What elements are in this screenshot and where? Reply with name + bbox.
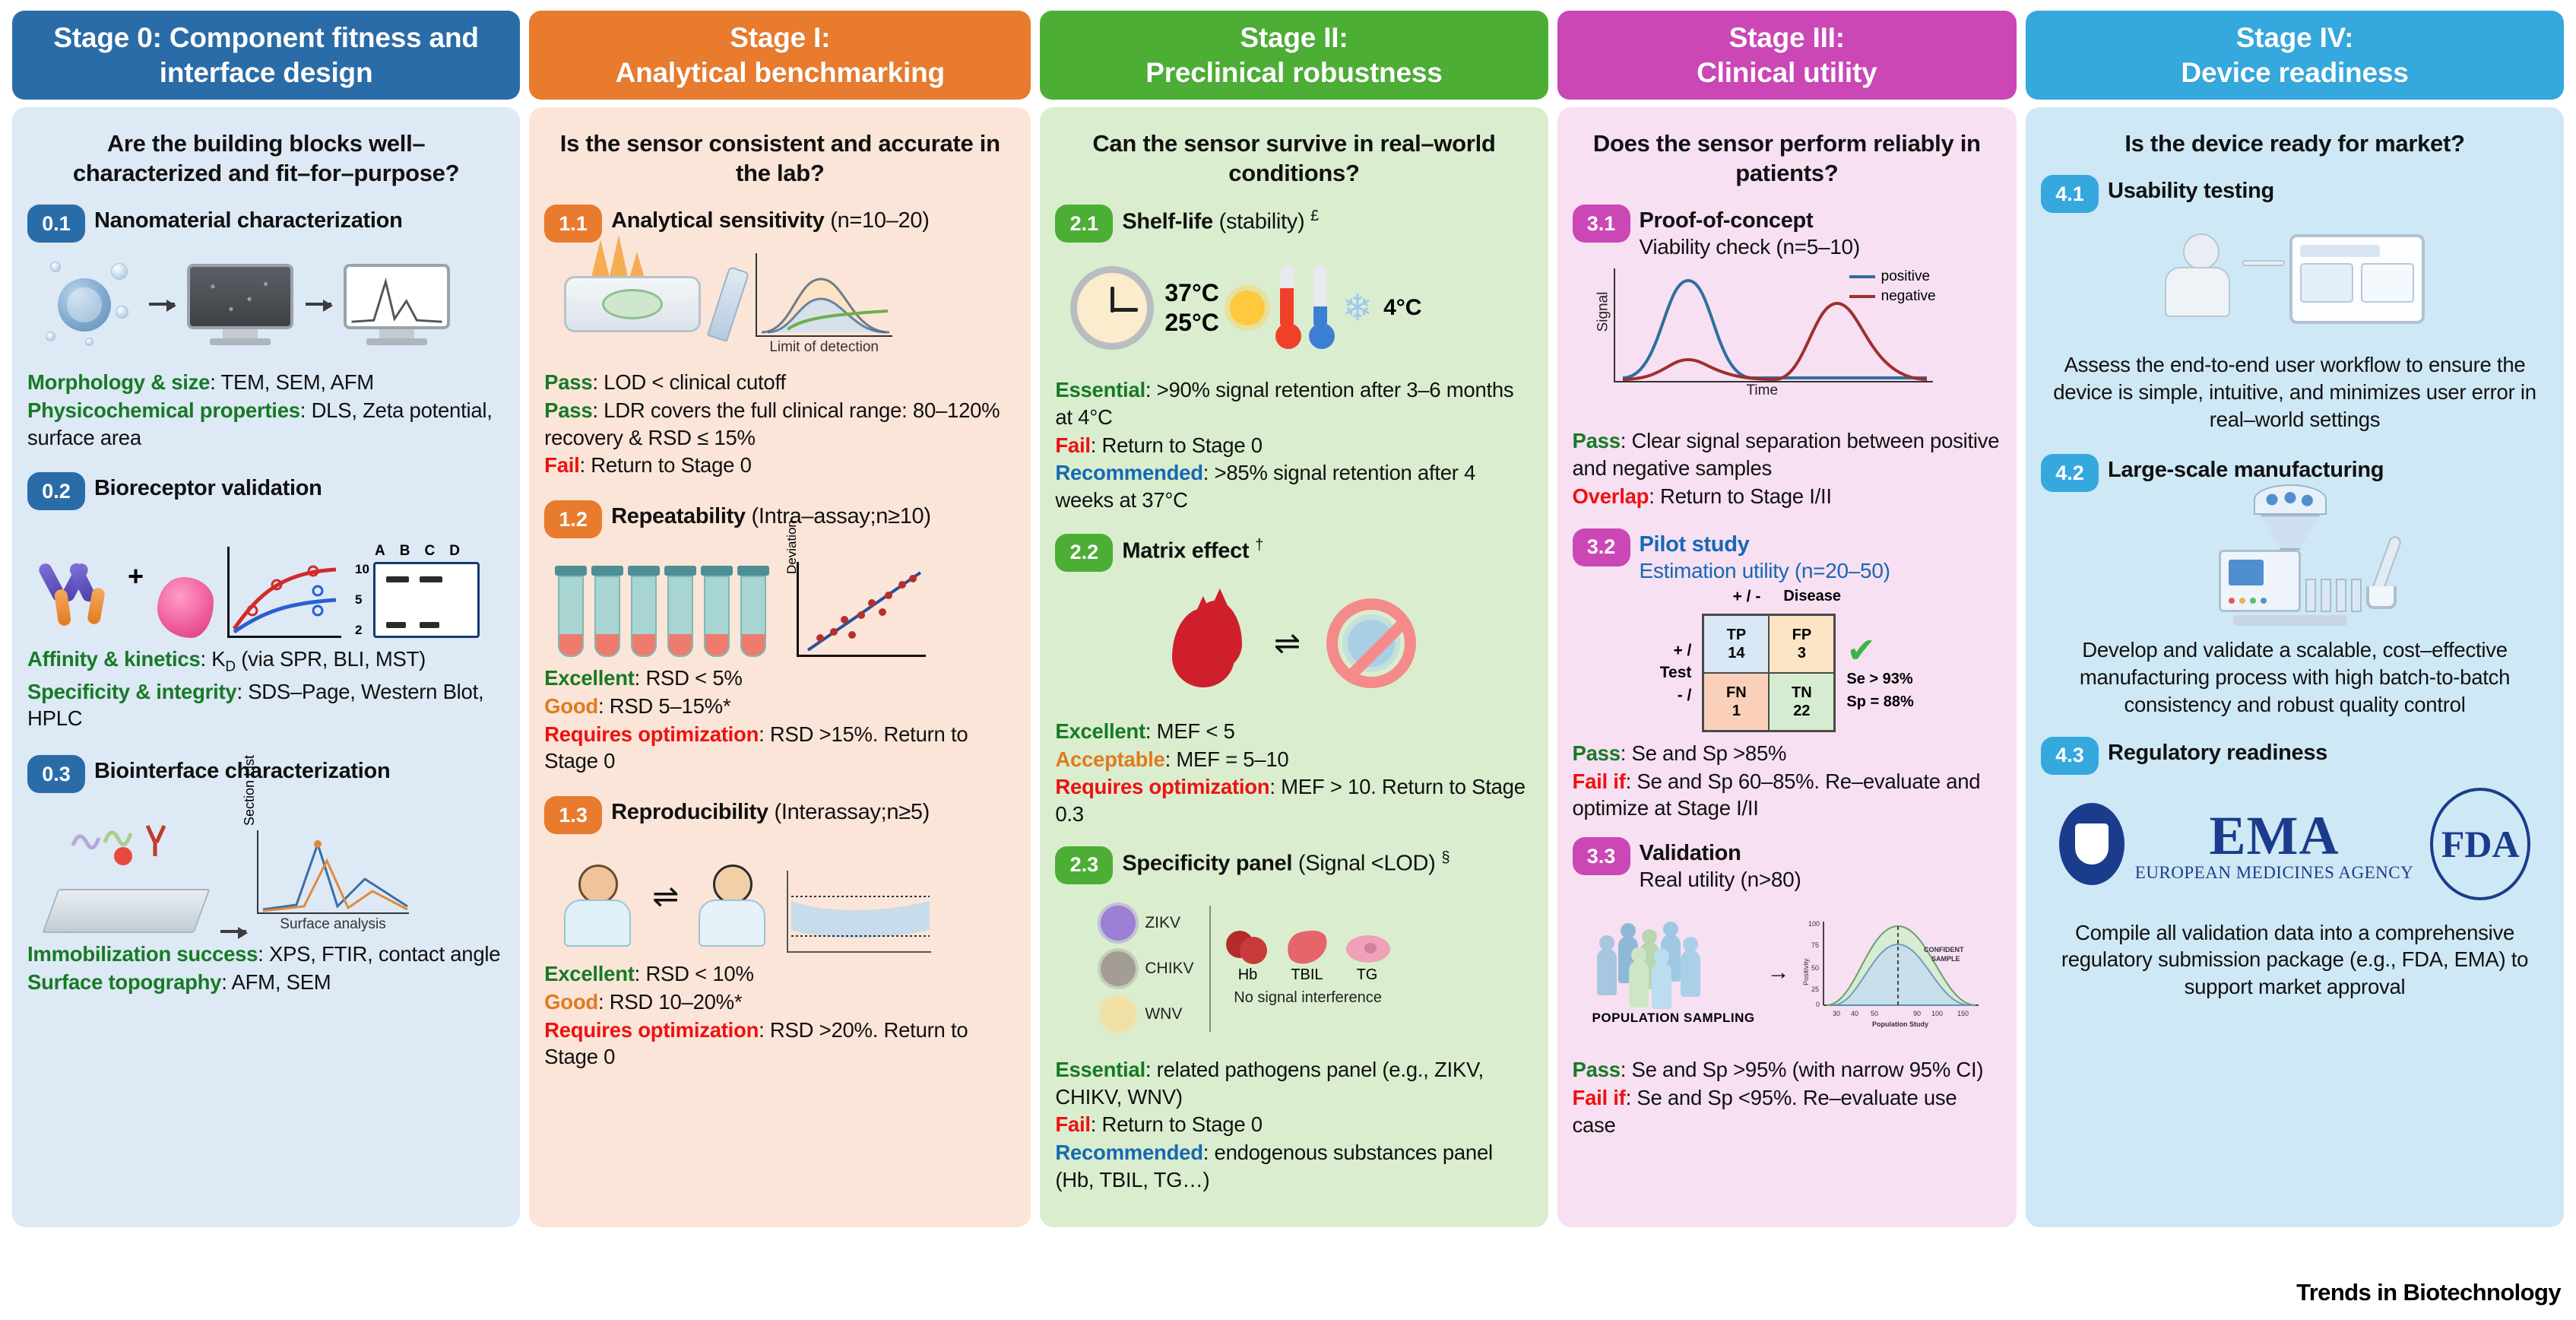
step-1-2: 1.2 Repeatability (Intra–assay;n≥10) [544,499,1016,538]
blot-lane-a: A [375,543,385,560]
assay-tube-icon [631,566,657,657]
assay-tube-icon [594,566,620,657]
criterion-key: Fail [1055,1112,1090,1136]
step-3-3-badge: 3.3 [1573,837,1630,875]
clock-icon [1070,266,1154,350]
scientist-icon-2 [699,865,767,953]
criterion-text: : RSD 5–15%* [598,694,730,718]
criterion-text: : Return to Stage 0 [580,453,752,477]
virus-icon-zikv [1101,906,1136,941]
blood-drop-icon [1172,596,1248,690]
blot-lane-b: B [400,543,410,560]
equilibrium-arrow-icon: ⇌ [652,877,679,915]
temperature-labels: 37°C 25°C [1164,278,1219,338]
criterion-text: : MEF = 5–10 [1165,747,1289,771]
population-icon [1592,919,1706,1011]
biointerface-characterization-art: Section List Surface analysis [27,798,505,933]
kd-subscript: D [225,659,235,675]
step-2-2-title: Matrix effect † [1122,532,1263,564]
svg-text:100: 100 [1808,920,1820,928]
svg-text:90: 90 [1913,1010,1921,1017]
hot-thermometer-icon [1275,265,1298,351]
criterion-key: Excellent [544,666,635,690]
criterion-key: Surface topography [27,970,221,994]
antibody-icon [41,562,114,638]
svg-text:75: 75 [1811,941,1819,949]
step-3-2-title-text: Pilot study [1640,532,1750,557]
journal-watermark: Trends in Biotechnology [2296,1279,2561,1306]
criterion-key: Excellent [544,962,635,985]
step-4-1-title-text: Usability testing [2108,179,2274,203]
plus-sign: + [128,560,144,592]
svg-text:40: 40 [1851,1010,1858,1017]
criterion-text: : RSD < 10% [635,962,754,985]
step-0-1-criteria: Morphology & size: TEM, SEM, AFM Physico… [27,369,505,451]
stage-2-title-line1: Stage II: [1145,21,1442,55]
step-1-3-title: Reproducibility (Interassay;n≥5) [611,795,930,825]
step-0-3-badge: 0.3 [27,755,85,793]
svg-text:25: 25 [1811,985,1819,993]
surface-analysis-caption: Surface analysis [257,916,409,933]
analytical-sensitivity-art: Limit of detection [544,247,1016,361]
cm-cell-value: 14 [1728,644,1744,662]
stage-2-question: Can the sensor survive in real–world con… [1063,129,1525,188]
equilibrium-arrow-icon-2: ⇌ [1274,624,1301,662]
shelf-life-art: 37°C 25°C ❄ 4°C [1055,247,1532,369]
criterion-key: Physicochemical properties [27,398,300,422]
stage-0-title-line1: Stage 0: Component fitness and [53,21,478,55]
axis-label-time: Time [1747,382,1779,399]
ema-logo-text: EMA [2135,804,2413,868]
confusion-matrix-header: + / - Disease [1573,588,2002,606]
step-3-2-badge: 3.2 [1573,528,1630,566]
svg-text:50: 50 [1811,964,1819,972]
confusion-matrix-metrics: ✔ Se > 93% Sp = 88% [1846,633,1913,713]
stage-3-question: Does the sensor perform reliably in pati… [1580,129,1995,188]
confusion-matrix-art: + / - Disease + / Test - / TP 14 [1573,588,2002,732]
functionalized-chip-icon [50,809,210,933]
step-3-3-title: Validation Real utility (n>80) [1640,836,1801,892]
cm-cell-tn: TN 22 [1769,673,1834,731]
repeatability-art: Deviation [544,543,1016,657]
temp-37c: 37°C [1164,278,1219,308]
protein-icon [157,577,214,638]
triglyceride-icon [1346,935,1390,963]
step-3-3-criteria: Pass: Se and Sp >95% (with narrow 95% CI… [1573,1056,2002,1138]
step-3-1-criteria: Pass: Clear signal separation between po… [1573,427,2002,509]
step-0-2-title: Bioreceptor validation [94,471,322,501]
snowflake-icon: ❄ [1342,287,1373,329]
step-2-3-footnote-marker: § [1441,849,1450,866]
step-1-1-title-text: Analytical sensitivity [611,208,824,233]
step-0-1: 0.1 Nanomaterial characterization [27,203,505,243]
step-2-3-title: Specificity panel (Signal <LOD) § [1122,845,1450,877]
stage-0-body: Are the building blocks well–characteriz… [12,107,520,1227]
pathogen-chikv: CHIKV [1101,951,1193,986]
scientist-icon-1 [564,865,632,953]
criterion-key: Good [544,694,598,718]
step-3-2-criteria: Pass: Se and Sp >85% Fail if: Se and Sp … [1573,740,2002,822]
western-blot-art: A B C D 10 5 2 [355,543,480,638]
criterion-text: : TEM, SEM, AFM [210,370,374,394]
step-2-3-title-text: Specificity panel [1122,852,1292,876]
pipette-icon [707,266,749,342]
step-3-1-subtitle: Viability check (n=5–10) [1640,234,1860,259]
criterion-key: Specificity & integrity [27,680,236,703]
blot-lane-labels: A B C D [355,543,480,560]
criterion-key: Requires optimization [544,722,759,746]
step-3-2-subtitle: Estimation utility (n=20–50) [1640,558,1890,583]
step-2-1: 2.1 Shelf-life (stability) £ [1055,203,1532,243]
step-3-1-badge: 3.1 [1573,205,1630,243]
step-1-2-title-text: Repeatability [611,504,746,528]
divider [1209,906,1211,1032]
criterion-text: : RSD < 5% [635,666,743,690]
manufacturing-line-icon [2219,484,2362,626]
assay-tube-icon [740,566,766,657]
step-4-1-badge: 4.1 [2041,175,2099,213]
cm-corner-label: Disease [1783,588,1841,606]
label-tbil: TBIL [1291,966,1323,984]
blot-lane-d: D [449,543,460,560]
step-2-2-badge: 2.2 [1055,534,1113,572]
criterion-text: : Return to Stage 0 [1091,433,1263,457]
cm-cell-fn: FN 1 [1703,673,1769,731]
step-1-1-title-suffix: (n=10–20) [824,208,929,233]
criterion-key: Overlap [1573,484,1649,508]
svg-text:Population Study: Population Study [1872,1020,1928,1028]
stage-3-body: Does the sensor perform reliably in pati… [1557,107,2017,1227]
pathogen-list: ZIKV CHIKV WNV [1101,906,1193,1032]
arm-icon [2242,260,2285,266]
step-3-1-title: Proof-of-concept Viability check (n=5–10… [1640,203,1860,259]
step-1-3-badge: 1.3 [544,796,602,834]
endogenous-substances-group: Hb TBIL TG No signal interference [1226,931,1390,1007]
tem-instrument-icon [187,264,293,345]
step-1-3-criteria: Excellent: RSD < 10% Good: RSD 10–20%* R… [544,960,1016,1071]
stage-2-header: Stage II: Preclinical robustness [1040,11,1548,100]
stage-column-3: Stage III: Clinical utility Does the sen… [1557,11,2017,1227]
legend-positive: positive [1849,268,1936,285]
arrow-right-icon-2 [306,303,331,306]
step-3-3: 3.3 Validation Real utility (n>80) [1573,836,2002,892]
criterion-text: : Se and Sp 60–85%. Re–evaluate and opti… [1573,769,1981,820]
step-3-2: 3.2 Pilot study Estimation utility (n=20… [1573,527,2002,583]
reproducibility-band-plot [787,871,931,953]
arrow-right-icon-3 [220,930,246,933]
step-3-3-subtitle: Real utility (n>80) [1640,867,1801,892]
criterion-text-2: (via SPR, BLI, MST) [236,647,426,671]
criterion-key: Recommended [1055,461,1202,484]
usability-testing-art [2041,217,2549,341]
step-4-1-title: Usability testing [2108,173,2274,204]
step-1-3-title-suffix: (Interassay;n≥5) [768,800,930,824]
hemoglobin-icon [1226,931,1269,963]
svg-text:CONFIDENT: CONFIDENT [1924,946,1964,954]
step-2-3-badge: 2.3 [1055,846,1113,884]
step-4-3: 4.3 Regulatory readiness [2041,735,2549,775]
sun-icon [1230,290,1265,325]
binding-curve-plot [227,547,341,638]
label-tg: TG [1357,966,1378,984]
criterion-key: Excellent [1055,719,1145,743]
criterion-key: Affinity & kinetics [27,647,201,671]
criterion-key: Immobilization success [27,942,258,966]
axis-label-signal: Signal [1595,292,1611,332]
criterion-text: : Se and Sp >85% [1621,741,1786,765]
cm-row-label-neg: - / [1660,686,1692,705]
legend-label-negative: negative [1881,288,1936,305]
regulatory-readiness-art: EMA EUROPEAN MEDICINES AGENCY FDA [2041,779,2549,909]
step-4-1: 4.1 Usability testing [2041,173,2549,213]
step-4-2-badge: 4.2 [2041,454,2099,492]
criterion-text: : LDR covers the full clinical range: 80… [544,398,1000,449]
criterion-key: Essential [1055,1058,1145,1081]
criterion-key: Essential [1055,378,1145,401]
legend-label-positive: positive [1881,268,1930,285]
criterion-text: : Se and Sp >95% (with narrow 95% CI) [1621,1058,1984,1081]
step-3-1-title-text: Proof-of-concept [1640,208,1814,233]
criterion-key: Good [544,990,598,1014]
criterion-key: Pass [544,370,592,394]
confusion-matrix-grid: TP 14 FP 3 FN 1 TN 22 [1702,614,1836,732]
confusion-matrix-row-labels: + / Test - / [1660,641,1692,705]
step-2-3: 2.3 Specificity panel (Signal <LOD) § [1055,845,1532,884]
cm-cell-value: 22 [1793,702,1810,720]
step-1-2-badge: 1.2 [544,500,602,538]
blot-lane-c: C [424,543,435,560]
step-0-3: 0.3 Biointerface characterization [27,754,505,793]
criterion-text: : MEF < 5 [1145,719,1235,743]
pathogen-label-chikv: CHIKV [1145,960,1193,978]
matrix-effect-art: ⇌ [1055,576,1532,710]
step-1-2-title-suffix: (Intra–assay;n≥10) [746,504,931,528]
criterion-key: Fail if [1573,769,1626,793]
cm-cell-tp: TP 14 [1703,615,1769,673]
stage-column-2: Stage II: Preclinical robustness Can the… [1040,11,1548,1227]
virus-icon-chikv [1101,951,1136,986]
criterion-text: : LOD < clinical cutoff [592,370,785,394]
svg-text:Positivity: Positivity [1802,958,1810,985]
svg-text:SAMPLE: SAMPLE [1931,955,1960,963]
step-1-3: 1.3 Reproducibility (Interassay;n≥5) [544,795,1016,834]
cold-thermometer-icon [1309,265,1332,351]
metric-specificity: Sp = 88% [1846,690,1913,713]
signal-separation-plot: Signal Time positive negative [1614,268,1933,396]
no-interference-icon [1326,598,1416,688]
cm-axis-label-test: Test [1660,660,1692,686]
nanoparticle-cluster-icon [46,259,137,350]
nanomaterial-characterization-art [27,247,505,361]
step-0-2-criteria: Affinity & kinetics: KD (via SPR, BLI, M… [27,646,505,732]
step-2-1-title-text: Shelf-life [1122,210,1212,234]
step-4-2-title: Large-scale manufacturing [2108,452,2384,483]
stage-2-body: Can the sensor survive in real–world con… [1040,107,1548,1227]
step-0-2: 0.2 Bioreceptor validation [27,471,505,510]
mw-marker-10: 10 [355,562,369,577]
criterion-key: Requires optimization [1055,775,1269,798]
blot-gel [373,562,480,638]
step-0-1-title: Nanomaterial characterization [94,203,403,233]
dls-readout-icon [344,264,450,345]
criterion-key: Fail if [1573,1086,1626,1109]
user-icon [2165,233,2238,325]
assay-tube-icon [558,566,584,657]
assay-plate-icon [564,276,701,332]
stage-3-title-line1: Stage III: [1697,21,1877,55]
endogenous-icons [1226,931,1390,963]
cm-column-header: + / - [1733,588,1761,606]
cm-cell-value: 3 [1798,644,1806,662]
legend-negative: negative [1849,288,1936,305]
temp-4c: 4°C [1383,294,1421,322]
step-3-3-title-text: Validation [1640,841,1741,865]
cm-cell-fp: FP 3 [1769,615,1834,673]
criterion-text: : K [201,647,226,671]
stage-1-question: Is the sensor consistent and accurate in… [552,129,1008,188]
criterion-key: Pass [544,398,592,422]
endogenous-labels: Hb TBIL TG [1226,966,1390,984]
cm-cell-label: TP [1727,626,1747,644]
pathogen-label-zikv: ZIKV [1145,914,1180,932]
svg-text:100: 100 [1931,1010,1943,1017]
pathogen-wnv: WNV [1101,997,1193,1032]
mw-marker-2: 2 [355,623,369,638]
stage-column-0: Stage 0: Component fitness and interface… [12,11,520,1227]
device-screen-icon [2289,234,2425,324]
stage-0-header: Stage 0: Component fitness and interface… [12,11,520,100]
lod-plot [756,253,892,337]
step-2-1-title-suffix: (stability) [1213,210,1304,234]
section-list-label: Section List [242,755,258,826]
assay-tube-icon [704,566,730,657]
step-4-3-title-text: Regulatory readiness [2108,741,2327,765]
criterion-text: : Se and Sp <95%. Re–evaluate use case [1573,1086,1957,1137]
ema-logo-subtext: EUROPEAN MEDICINES AGENCY [2135,863,2413,883]
step-2-2-title-text: Matrix effect [1122,539,1249,563]
stage-column-4: Stage IV: Device readiness Is the device… [2026,11,2564,1227]
step-0-2-badge: 0.2 [27,472,85,510]
step-2-1-footnote-marker: £ [1310,208,1319,224]
pathogen-zikv: ZIKV [1101,906,1193,941]
checkmark-icon: ✔ [1846,633,1913,668]
bilirubin-icon [1282,925,1331,969]
step-4-3-title: Regulatory readiness [2108,735,2327,766]
population-sampling-caption: POPULATION SAMPLING [1592,1011,1755,1026]
cm-cell-value: 1 [1732,702,1741,720]
stage-column-1: Stage I: Analytical benchmarking Is the … [529,11,1031,1227]
population-distribution-plot: 100 75 50 25 0 30 40 50 90 100 150 CONFI… [1802,915,1985,1030]
step-2-2-criteria: Excellent: MEF < 5 Acceptable: MEF = 5–1… [1055,718,1532,828]
lod-caption: Limit of detection [756,339,892,356]
svg-text:0: 0 [1816,1001,1820,1008]
step-4-1-description: Assess the end-to-end user workflow to e… [2045,351,2544,433]
stage-0-title-line2: interface design [53,56,478,90]
stage-1-body: Is the sensor consistent and accurate in… [529,107,1031,1227]
stage-1-title-line1: Stage I: [616,21,945,55]
step-2-2-footnote-marker: † [1255,537,1263,554]
step-1-1-title: Analytical sensitivity (n=10–20) [611,203,929,233]
fda-logo: FDA [2430,788,2530,900]
stage-2-title-line2: Preclinical robustness [1145,56,1442,90]
stage-3-title-line2: Clinical utility [1697,56,1877,90]
ema-logo-mark [2059,803,2124,885]
criterion-text: : XPS, FTIR, contact angle [258,942,500,966]
step-4-2-description: Develop and validate a scalable, cost–ef… [2045,636,2544,718]
assay-tube-icon [667,566,693,657]
criterion-text: : RSD 10–20%* [598,990,742,1014]
step-2-1-criteria: Essential: >90% signal retention after 3… [1055,376,1532,514]
criterion-key: Pass [1573,429,1621,452]
proof-of-concept-art: Signal Time positive negative [1573,264,2002,420]
criterion-key: Acceptable [1055,747,1164,771]
no-signal-interference-caption: No signal interference [1226,989,1390,1007]
criterion-key: Recommended [1055,1141,1202,1164]
step-1-3-title-text: Reproducibility [611,800,768,824]
validation-art: POPULATION SAMPLING → 100 75 50 25 0 [1573,896,2002,1049]
step-1-1-criteria: Pass: LOD < clinical cutoff Pass: LDR co… [544,369,1016,479]
cm-cell-label: FP [1792,626,1812,644]
step-4-3-badge: 4.3 [2041,737,2099,775]
criterion-text: : Return to Stage I/II [1649,484,1832,508]
stage-3-header: Stage III: Clinical utility [1557,11,2017,100]
step-2-3-title-suffix: (Signal <LOD) [1292,852,1435,876]
arrow-right-icon [149,303,175,306]
pathogen-label-wnv: WNV [1145,1005,1182,1023]
step-0-1-badge: 0.1 [27,205,85,243]
criterion-key: Fail [544,453,579,477]
stage-4-body: Is the device ready for market? 4.1 Usab… [2026,107,2564,1227]
stage-4-header: Stage IV: Device readiness [2026,11,2564,100]
surface-analysis-plot [257,830,409,914]
stage-0-question: Are the building blocks well–characteriz… [35,129,497,188]
step-2-1-title: Shelf-life (stability) £ [1122,203,1319,235]
step-0-2-title-text: Bioreceptor validation [94,476,322,500]
step-2-1-badge: 2.1 [1055,205,1113,243]
validation-roadmap-figure: Stage 0: Component fitness and interface… [0,0,2576,1320]
step-2-2: 2.2 Matrix effect † [1055,532,1532,572]
step-0-3-criteria: Immobilization success: XPS, FTIR, conta… [27,941,505,996]
step-4-2-title-text: Large-scale manufacturing [2108,458,2384,482]
stage-1-header: Stage I: Analytical benchmarking [529,11,1031,100]
criterion-key: Morphology & size [27,370,210,394]
step-3-1: 3.1 Proof-of-concept Viability check (n=… [1573,203,2002,259]
criterion-text: : Clear signal separation between positi… [1573,429,2000,480]
criterion-key: Pass [1573,1058,1621,1081]
svg-text:150: 150 [1957,1010,1969,1017]
stage-1-title-line2: Analytical benchmarking [616,56,945,90]
mw-marker-5: 5 [355,592,369,608]
cm-cell-label: FN [1726,684,1747,702]
stage-4-title-line2: Device readiness [2181,56,2408,90]
criterion-key: Fail [1055,433,1090,457]
step-4-3-description: Compile all validation data into a compr… [2045,919,2544,1001]
cm-cell-label: TN [1792,684,1812,702]
step-0-1-title-text: Nanomaterial characterization [94,208,403,233]
repeatability-scatter-plot [797,562,926,657]
step-1-2-criteria: Excellent: RSD < 5% Good: RSD 5–15%* Req… [544,665,1016,775]
virus-icon-wnv [1101,997,1136,1032]
cm-row-label-pos: + / [1660,641,1692,660]
step-1-2-title: Repeatability (Intra–assay;n≥10) [611,499,931,529]
svg-text:50: 50 [1871,1010,1878,1017]
temp-25c: 25°C [1164,308,1219,338]
arrow-right-icon-4: → [1767,960,1790,985]
plot-legend: positive negative [1849,268,1936,308]
step-2-3-criteria: Essential: related pathogens panel (e.g.… [1055,1056,1532,1194]
label-hb: Hb [1238,966,1258,984]
stage-4-title-line1: Stage IV: [2181,21,2408,55]
